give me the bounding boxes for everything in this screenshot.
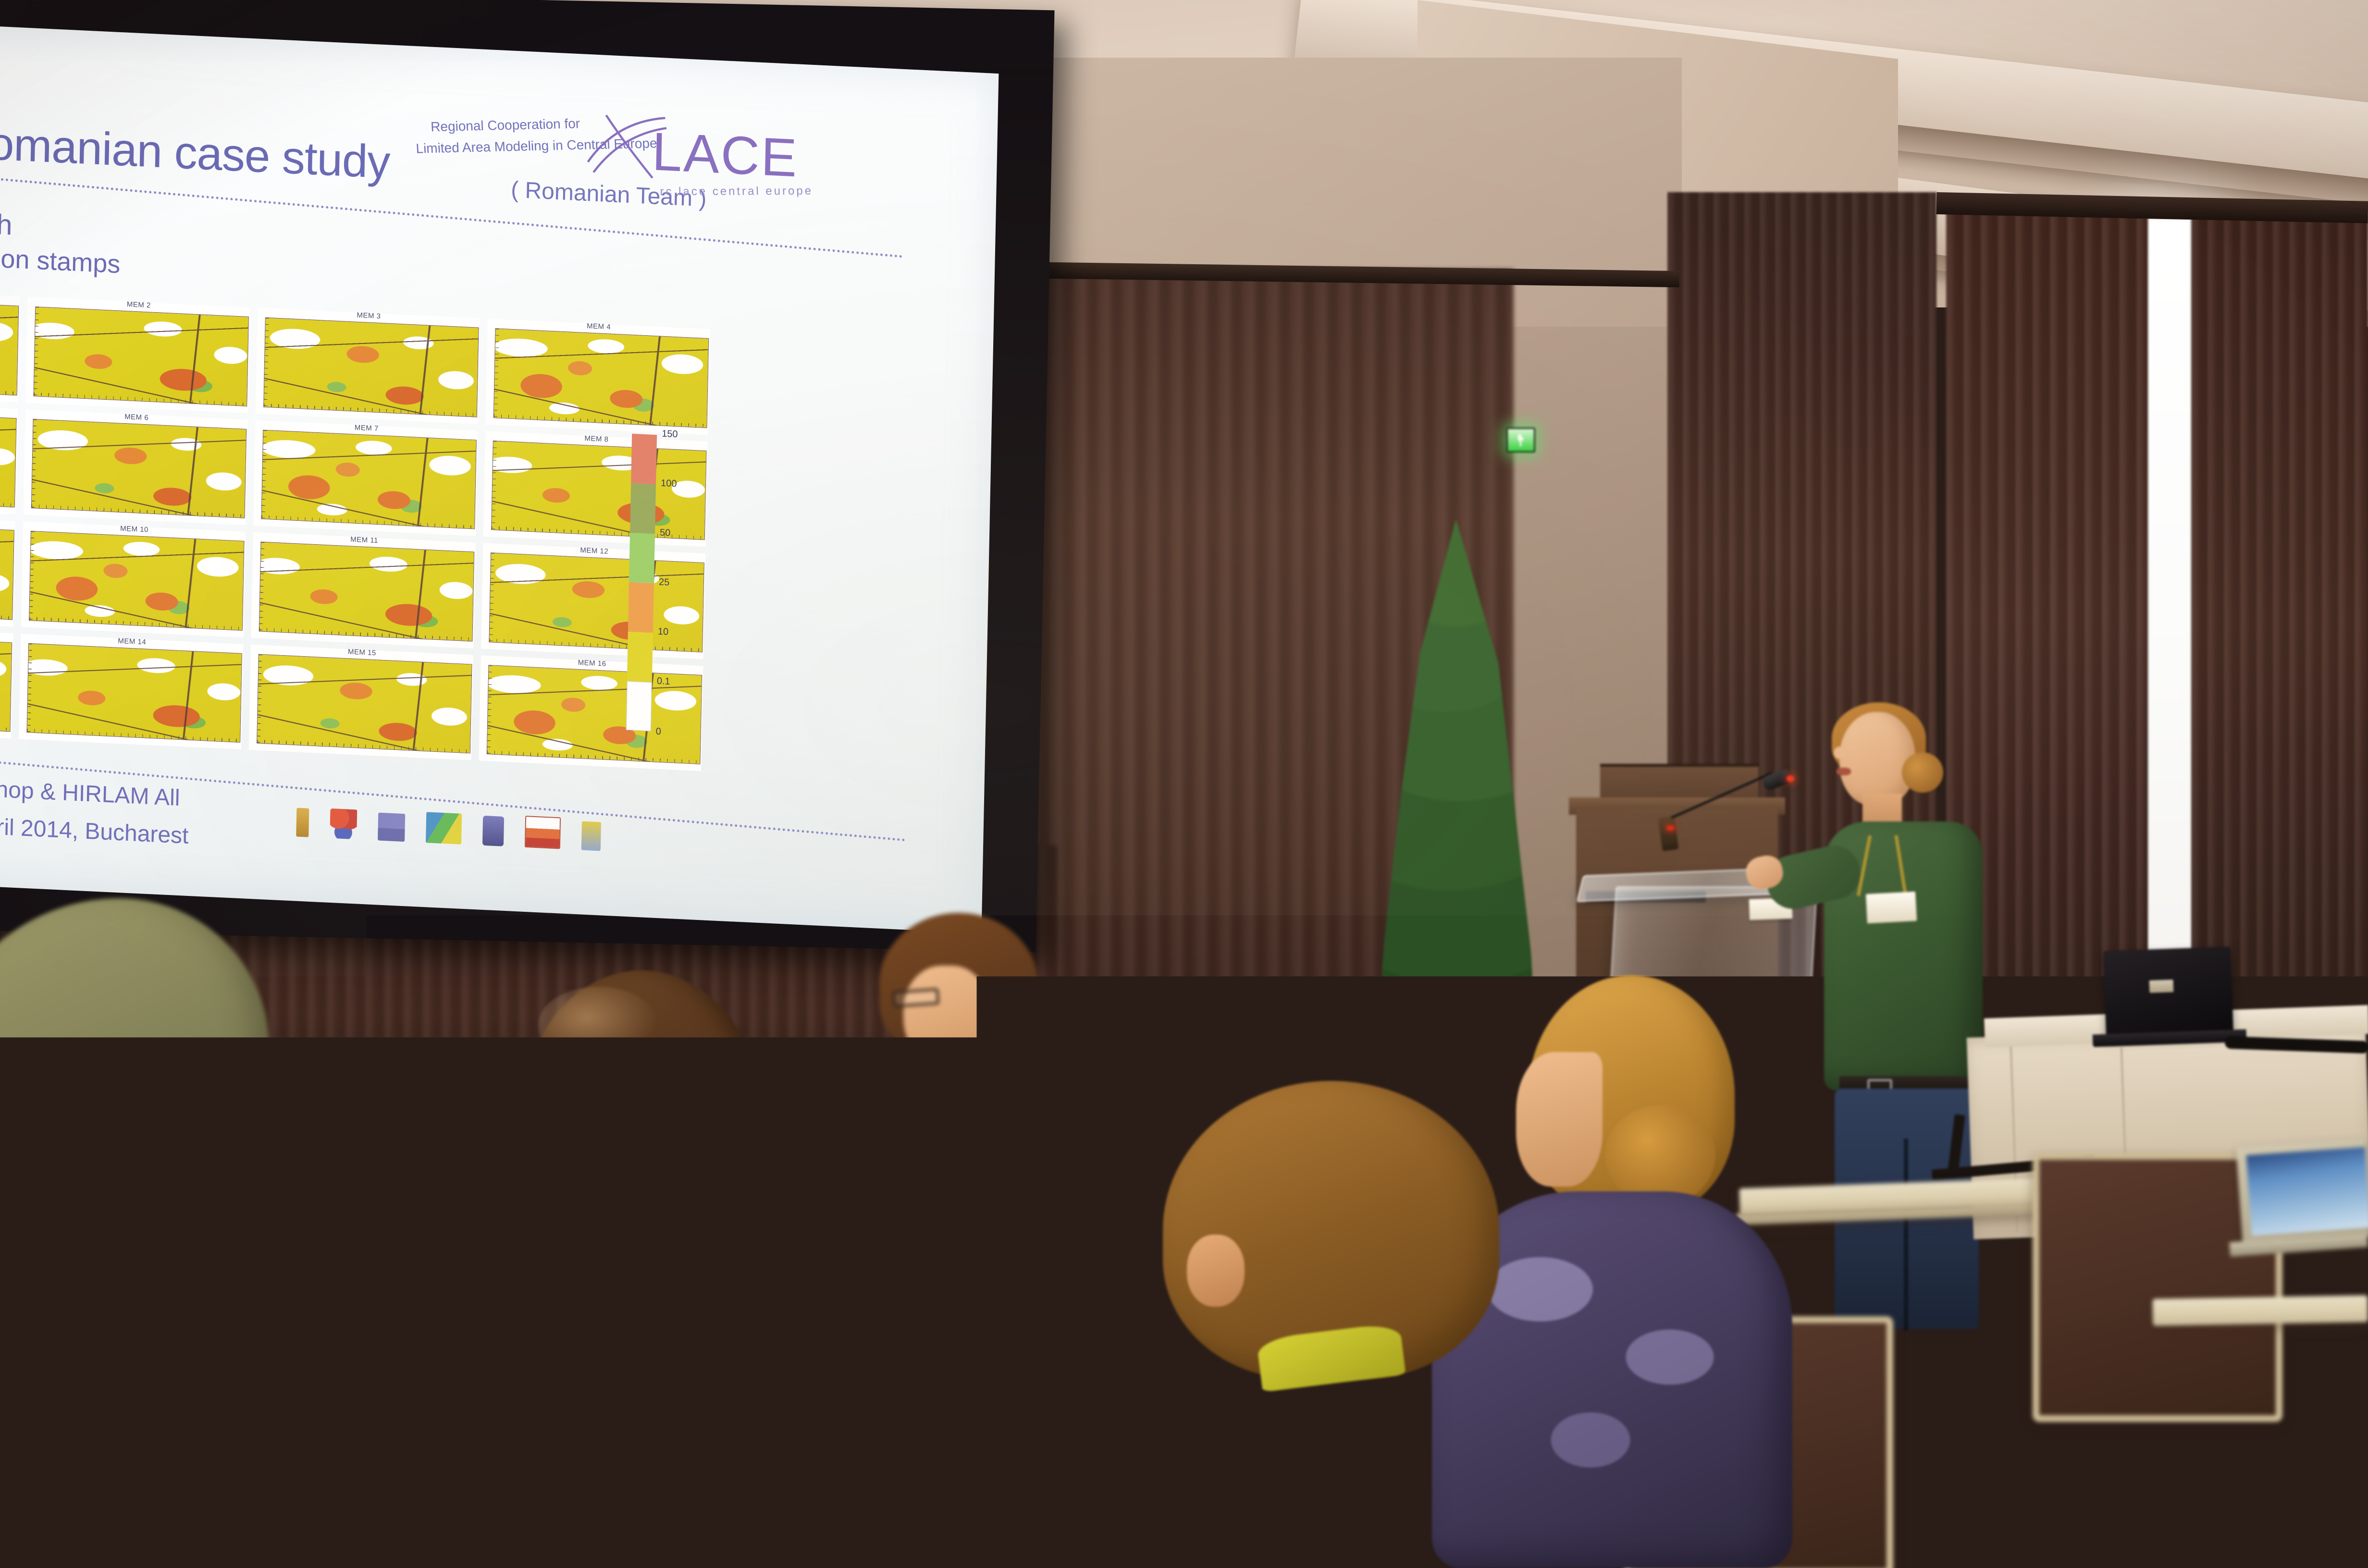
water-bottle-ring [278,1198,319,1205]
exit-sign-icon [1506,428,1535,453]
stamp-panel: MEM 9 [0,511,15,626]
water-bottle-cap[interactable] [281,1176,316,1199]
presenter-head [1839,712,1915,806]
person-check-shirt-ear [1187,1235,1245,1307]
sponsor-logo-2 [330,808,357,840]
person-check-shirt [942,1326,1643,1568]
topiary-foliage [1374,519,1538,1076]
laptop-logo-icon [2149,980,2174,993]
stamp-panel: MEM 3 [256,308,480,424]
potted-topiary [1374,519,1538,1139]
colorbar-tick: 25 [659,576,670,588]
water-bottle-label [276,1235,320,1272]
sponsor-logo-4 [426,812,462,844]
audience-table [2153,1295,2368,1326]
colorbar-tick: 0.1 [657,675,670,687]
stamp-label: MEM 2 [127,300,151,309]
presenter-mouth [1837,768,1851,775]
colorbar-tick: 50 [660,527,671,539]
stamp-panel: MEM 4 [486,318,710,434]
colorbar-tick: 10 [658,626,669,637]
device[interactable] [2157,1531,2231,1568]
presenter-hair-bun [1902,752,1943,793]
colorbar-tick: 0 [656,726,662,738]
microphone-led-indicator [1666,825,1675,831]
stamp-label: MEM 7 [355,423,379,432]
presenter-badge [1865,891,1917,923]
person-purple-top-face [1516,1052,1603,1187]
stamp-panel: MEM 1 [0,286,20,402]
back-laptop[interactable] [2103,946,2233,1038]
stamp-label: MEM 4 [587,322,611,331]
laptop-screen[interactable] [2246,1147,2368,1236]
sponsor-logo-1 [296,808,309,837]
sponsor-logo-row [296,805,601,851]
stamp-label: MEM 14 [118,637,146,646]
presenter-leg-divide [1904,1139,1908,1331]
stamp-label: MEM 11 [350,535,378,545]
precipitation-stamp-grid: MEM 1 MEM 2 MEM 3 MEM 4 MEM 5 MEM 6 MEM … [0,286,710,771]
lace-sub-wordmark: rc lace central europe [660,184,813,199]
sponsor-logo-6 [525,816,561,849]
stamp-label: MEM 3 [357,311,381,320]
laptop-screen[interactable] [238,1087,397,1201]
stamp-label: MEM 10 [120,525,148,534]
stamp-label: MEM 16 [578,658,606,668]
slide-subtitle-field: ated precipitation stamps [0,236,121,279]
stamp-label: MEM 6 [124,413,148,422]
stamp-panel: MEM 14 [19,634,243,749]
colorbar-tick: 100 [661,478,677,490]
stamp-label: MEM 12 [580,546,608,556]
stamp-panel: MEM 13 [0,623,13,738]
person-red-jacket-face [903,966,990,1066]
eyeglasses-icon [892,988,939,1008]
stamp-panel: MEM 10 [21,521,246,637]
sponsor-logo-3 [378,813,405,842]
stamp-panel: MEM 7 [253,420,478,536]
sponsor-logo-5 [482,816,504,846]
stamp-panel: MEM 11 [251,532,475,648]
lace-logo: Regional Cooperation for Limited Area Mo… [439,93,811,221]
sponsor-logo-7 [581,821,601,851]
lace-wordmark: LACE [652,120,799,189]
stamp-panel: MEM 2 [25,297,250,413]
stamp-panel: MEM 15 [249,644,473,760]
stamp-label: MEM 8 [584,434,608,443]
presenter-nose [1834,747,1846,759]
person-purple-top-bun [1605,1105,1715,1206]
colorbar-tick: 150 [662,429,678,441]
stamp-label: MEM 15 [348,648,376,657]
lace-tagline-line1: Regional Cooperation for [430,116,580,135]
conference-room-scene: -LAEF Romanian case study ( Romanian Tea… [0,0,2368,1568]
chair[interactable] [509,1360,932,1568]
head-highlight [1081,995,1134,1024]
stamp-panel: MEM 6 [24,409,248,525]
stamp-panel: MEM 5 [0,398,18,514]
projection-screen[interactable]: -LAEF Romanian case study ( Romanian Tea… [0,24,999,933]
slide-footer-line2: f Meeting, 7-11 April 2014, Bucharest [0,805,189,849]
slide-subtitle-time: 00 UTC + 54h [0,200,12,241]
